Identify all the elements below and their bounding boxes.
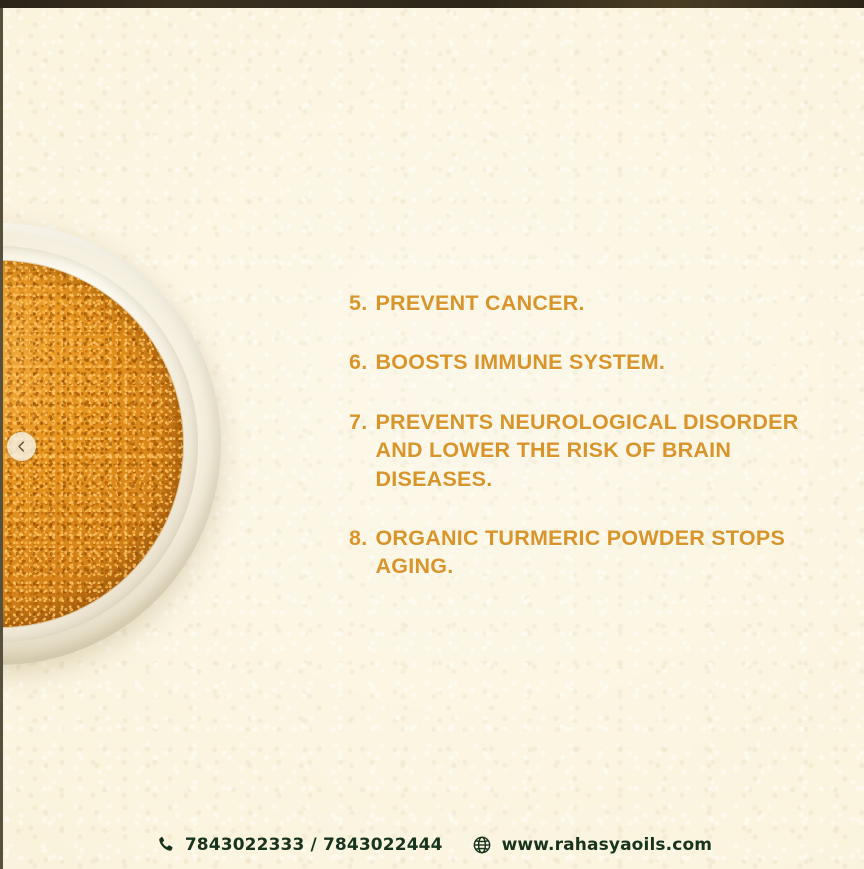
footer-phone[interactable]: 7843022333 / 7843022444	[155, 834, 443, 855]
footer-website-text: www.rahasyaoils.com	[502, 835, 713, 855]
footer-phone-text: 7843022333 / 7843022444	[185, 835, 443, 855]
globe-icon	[472, 834, 493, 855]
footer-contact-bar: 7843022333 / 7843022444 www.rahasyaoils.…	[3, 834, 864, 855]
benefit-item: 5. PREVENT CANCER.	[349, 289, 841, 317]
benefit-number: 8.	[349, 524, 367, 581]
window-top-chrome-strip	[0, 0, 864, 8]
phone-icon	[155, 834, 176, 855]
benefit-text: PREVENT CANCER.	[375, 289, 841, 317]
benefit-number: 7.	[349, 408, 367, 493]
benefit-item: 8. ORGANIC TURMERIC POWDER STOPS AGING.	[349, 524, 841, 581]
benefit-item: 7. PREVENTS NEUROLOGICAL DISORDER AND LO…	[349, 408, 841, 493]
benefit-text: BOOSTS IMMUNE SYSTEM.	[375, 348, 841, 376]
benefit-number: 6.	[349, 348, 367, 376]
window-left-chrome-strip	[0, 8, 3, 869]
slide-canvas: 5. PREVENT CANCER. 6. BOOSTS IMMUNE SYST…	[3, 8, 864, 869]
benefits-list: 5. PREVENT CANCER. 6. BOOSTS IMMUNE SYST…	[349, 289, 841, 581]
benefit-text: ORGANIC TURMERIC POWDER STOPS AGING.	[375, 524, 841, 581]
benefit-text: PREVENTS NEUROLOGICAL DISORDER AND LOWER…	[375, 408, 841, 493]
benefit-number: 5.	[349, 289, 367, 317]
benefit-item: 6. BOOSTS IMMUNE SYSTEM.	[349, 348, 841, 376]
chevron-left-icon	[15, 440, 28, 453]
footer-website[interactable]: www.rahasyaoils.com	[472, 834, 713, 855]
carousel-prev-button[interactable]	[7, 432, 36, 461]
